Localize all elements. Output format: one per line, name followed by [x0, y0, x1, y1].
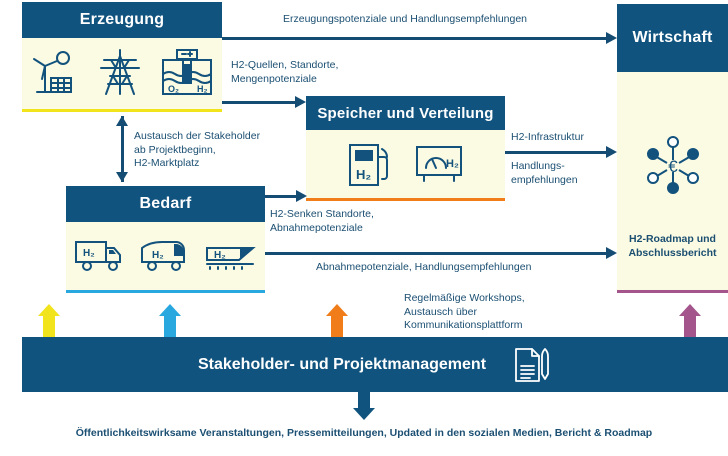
arrow-label-speicher-to-wirtschaft-top: H2-Infrastruktur: [511, 131, 584, 145]
arrow-label-stakeholder-workshops: Regelmäßige Workshops, Austausch über Ko…: [404, 292, 525, 333]
block-rule-erzeugung: [22, 109, 222, 112]
erzeugung-icon-row: O₂ H₂: [22, 46, 222, 103]
wirtschaft-footer-label: H2-Roadmap und Abschlussbericht: [617, 232, 728, 260]
h2-fuel-pump-icon: H₂: [346, 139, 392, 194]
block-header-bedarf: Bedarf: [66, 186, 265, 222]
block-body-erzeugung: O₂ H₂: [22, 38, 222, 109]
power-pylon-icon: [96, 46, 144, 103]
h2-train-icon: H₂: [204, 234, 258, 279]
arrow-label-bedarf-to-speicher: H2-Senken Standorte, Abnahmepotenziale: [270, 208, 374, 235]
arrow-label-speicher-to-wirtschaft-bottom: Handlungs- empfehlungen: [511, 160, 578, 187]
fat-arrow-yellow: [37, 304, 61, 338]
h2-truck-icon: H₂: [73, 234, 125, 279]
block-header-speicher: Speicher und Verteilung: [306, 96, 505, 130]
block-rule-bedarf: [66, 290, 265, 293]
block-header-erzeugung: Erzeugung: [22, 2, 222, 38]
stakeholder-bar-label: Stakeholder- und Projektmanagement: [198, 356, 486, 374]
h2-van-icon: H₂: [138, 234, 190, 279]
block-header-wirtschaft: Wirtschaft: [617, 4, 728, 72]
diagram-canvas: Erzeugung: [0, 0, 728, 456]
arrow-label-erzeugung-to-wirtschaft: Erzeugungspotenziale und Handlungsempfeh…: [283, 13, 527, 27]
wind-solar-icon: [29, 46, 81, 103]
block-stakeholder-bar: Stakeholder- und Projektmanagement: [22, 337, 728, 392]
svg-text:H₂: H₂: [214, 250, 226, 261]
euro-network-icon: €: [637, 130, 709, 207]
svg-text:€: €: [668, 157, 678, 176]
fat-arrow-orange: [325, 304, 349, 338]
bedarf-icon-row: H₂ H₂: [66, 234, 265, 279]
block-rule-speicher: [306, 198, 505, 201]
arrow-label-erzeugung-bedarf-exchange: Austausch der Stakeholder ab Projektbegi…: [134, 130, 260, 171]
svg-text:H₂: H₂: [83, 248, 95, 259]
block-body-wirtschaft: € H2-Roadmap und Abschlussbericht: [617, 72, 728, 290]
block-body-speicher: H₂ H₂: [306, 130, 505, 198]
fat-arrow-down-blue: [352, 392, 376, 420]
svg-text:H₂: H₂: [197, 84, 208, 94]
bottom-caption: Öffentlichkeitswirksame Veranstaltungen,…: [0, 427, 728, 439]
block-rule-wirtschaft: [617, 290, 728, 293]
svg-text:O₂: O₂: [168, 84, 179, 94]
speicher-icon-row: H₂ H₂: [306, 139, 505, 194]
svg-text:H₂: H₂: [446, 158, 459, 170]
fat-arrow-light-blue: [158, 304, 182, 338]
electrolyzer-icon: O₂ H₂: [159, 46, 215, 103]
h2-gauge-icon: H₂: [413, 141, 465, 192]
fat-arrow-purple: [678, 304, 702, 338]
arrow-label-erzeugung-to-speicher: H2-Quellen, Standorte, Mengenpotenziale: [231, 59, 338, 86]
arrow-label-bedarf-to-wirtschaft: Abnahmepotenziale, Handlungsempfehlungen: [316, 261, 531, 275]
block-body-bedarf: H₂ H₂: [66, 222, 265, 290]
svg-text:H₂: H₂: [356, 167, 371, 182]
svg-text:H₂: H₂: [152, 250, 164, 261]
document-pen-icon: [510, 344, 552, 386]
